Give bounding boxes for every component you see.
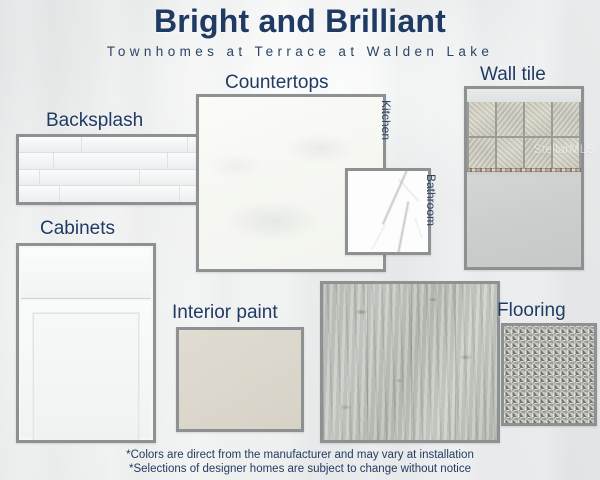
label-cabinets: Cabinets — [40, 218, 115, 240]
label-wall-tile: Wall tile — [480, 64, 546, 86]
wall-tile-header-band — [467, 89, 581, 102]
wall-tile-cell — [553, 102, 579, 136]
footer-disclaimer: *Colors are direct from the manufacturer… — [0, 448, 600, 476]
footer-line-2: *Selections of designer homes are subjec… — [0, 462, 600, 476]
cabinet-drawer-front — [21, 248, 151, 299]
swatch-countertop-bathroom — [345, 168, 431, 255]
label-flooring: Flooring — [497, 300, 566, 322]
wall-tile-cell — [469, 138, 495, 172]
label-countertops: Countertops — [225, 72, 329, 94]
swatch-plank-flooring — [320, 281, 500, 443]
wall-tile-cell — [497, 102, 523, 136]
wall-tile-field-area — [467, 175, 581, 267]
wall-tile-cell — [497, 138, 523, 172]
page-title: Bright and Brilliant — [0, 3, 600, 40]
footer-line-1: *Colors are direct from the manufacturer… — [0, 448, 600, 462]
cabinet-door-front — [21, 301, 151, 438]
swatch-carpet-flooring — [501, 323, 597, 426]
wall-tile-cell — [525, 102, 551, 136]
design-selection-board: Bright and Brilliant Townhomes at Terrac… — [0, 0, 600, 480]
cabinet-door-panel — [33, 313, 139, 443]
plank-knot-texture — [323, 284, 497, 440]
swatch-interior-paint — [176, 327, 304, 432]
label-backsplash: Backsplash — [46, 110, 143, 132]
wall-tile-accent-band — [467, 168, 581, 172]
swatch-cabinets — [16, 243, 156, 443]
label-kitchen: Kitchen — [379, 100, 393, 140]
label-interior-paint: Interior paint — [172, 302, 278, 324]
label-bathroom: Bathroom — [424, 174, 438, 226]
swatch-wall-tile — [464, 86, 584, 270]
carpet-fleck-texture — [504, 326, 594, 423]
wall-tile-cell — [469, 102, 495, 136]
wall-tile-grid — [467, 102, 581, 171]
page-subtitle: Townhomes at Terrace at Walden Lake — [0, 44, 600, 59]
watermark: StellarMLS — [533, 142, 595, 156]
